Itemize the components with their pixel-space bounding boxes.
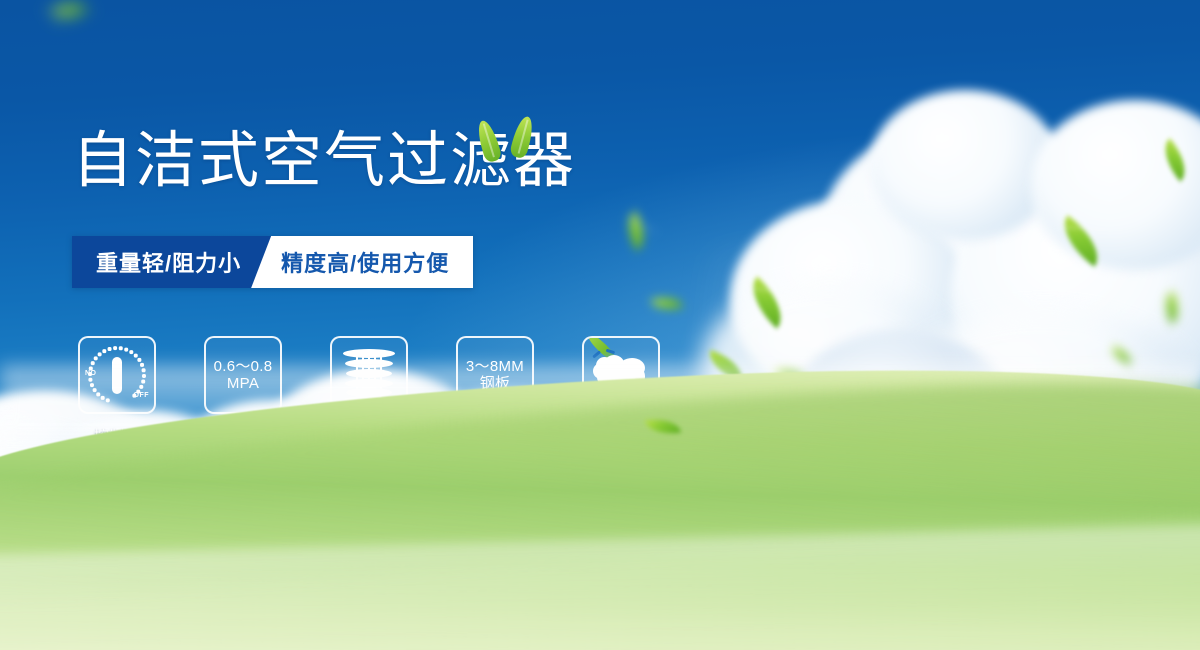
- dial-tick: [91, 361, 94, 364]
- dial-tick: [103, 349, 106, 352]
- filter-cartridge-icon: [330, 336, 408, 414]
- air-cloud-icon: Air: [582, 336, 660, 414]
- sky-background: [0, 0, 1200, 650]
- sprout-leaves-icon: [474, 112, 544, 164]
- feature-label: 集尘: [605, 425, 636, 446]
- dial-tick: [142, 380, 145, 383]
- dial-tick: [97, 393, 100, 396]
- air-text: Air: [590, 391, 652, 405]
- dial-needle: [112, 357, 122, 394]
- pressure-value-icon: 0.6～0.8 MPA: [204, 336, 282, 414]
- dial-tick: [130, 350, 133, 353]
- dial-tick: [140, 385, 143, 388]
- dial-tick: [113, 346, 116, 349]
- dial-graphic: NO OFF: [86, 344, 148, 406]
- dial-tick: [142, 369, 145, 372]
- feature-item-blowback[interactable]: 强力反吹: [330, 336, 408, 446]
- feature-icon-row: NO OFF 控制仪 0.6～0.8 MPA 二级过滤: [78, 336, 660, 446]
- feature-label: 钢结构强度: [456, 425, 534, 446]
- cloud-wisp-3: [640, 470, 800, 506]
- subtitle-tag-bar: 重量轻/阻力小 精度高/使用方便: [72, 236, 473, 288]
- pressure-line-1: 0.6～0.8: [214, 358, 273, 375]
- title-block: 自洁式空气过滤器: [72, 130, 576, 191]
- dial-tick: [94, 357, 97, 360]
- cloud-wisp-1: [760, 430, 940, 474]
- dial-tick: [125, 348, 128, 351]
- cartridge-graphic: [340, 346, 398, 404]
- dial-tick: [140, 363, 143, 366]
- steel-line-1: 3～8MM: [466, 358, 524, 375]
- feature-item-control[interactable]: NO OFF 控制仪: [78, 336, 156, 446]
- dial-tick: [119, 347, 122, 350]
- feature-item-dust[interactable]: Air 集尘: [582, 336, 660, 446]
- dial-tick: [98, 353, 101, 356]
- dial-tick: [138, 358, 141, 361]
- dial-tick: [93, 388, 96, 391]
- cloud-wisp-2: [880, 470, 1120, 520]
- dial-tick: [142, 374, 145, 377]
- dial-tick: [106, 399, 109, 402]
- tag-weight-resistance: 重量轻/阻力小: [72, 236, 271, 288]
- cloud-graphic: Air: [590, 347, 652, 403]
- steel-plate-icon: 3～8MM 钢板: [456, 336, 534, 414]
- dial-tick: [90, 383, 93, 386]
- steel-line-2: 钢板: [480, 375, 511, 392]
- promo-banner: 自洁式空气过滤器 重量轻/阻力小 精度高/使用方便 NO OFF 控制仪 0.6…: [0, 0, 1200, 650]
- feature-item-steel[interactable]: 3～8MM 钢板 钢结构强度: [456, 336, 534, 446]
- dial-tick: [108, 347, 111, 350]
- feature-label: 强力反吹: [338, 425, 400, 446]
- dial-tick: [101, 396, 104, 399]
- tag-precision-convenience: 精度高/使用方便: [251, 236, 473, 288]
- feature-label: 控制仪: [94, 425, 141, 446]
- dial-off-label: OFF: [134, 392, 150, 399]
- pressure-line-2: MPA: [227, 375, 259, 392]
- control-dial-icon: NO OFF: [78, 336, 156, 414]
- feature-label: 二级过滤: [212, 425, 274, 446]
- dial-tick: [89, 378, 92, 381]
- feature-item-filtration[interactable]: 0.6～0.8 MPA 二级过滤: [204, 336, 282, 446]
- dial-tick: [134, 354, 137, 357]
